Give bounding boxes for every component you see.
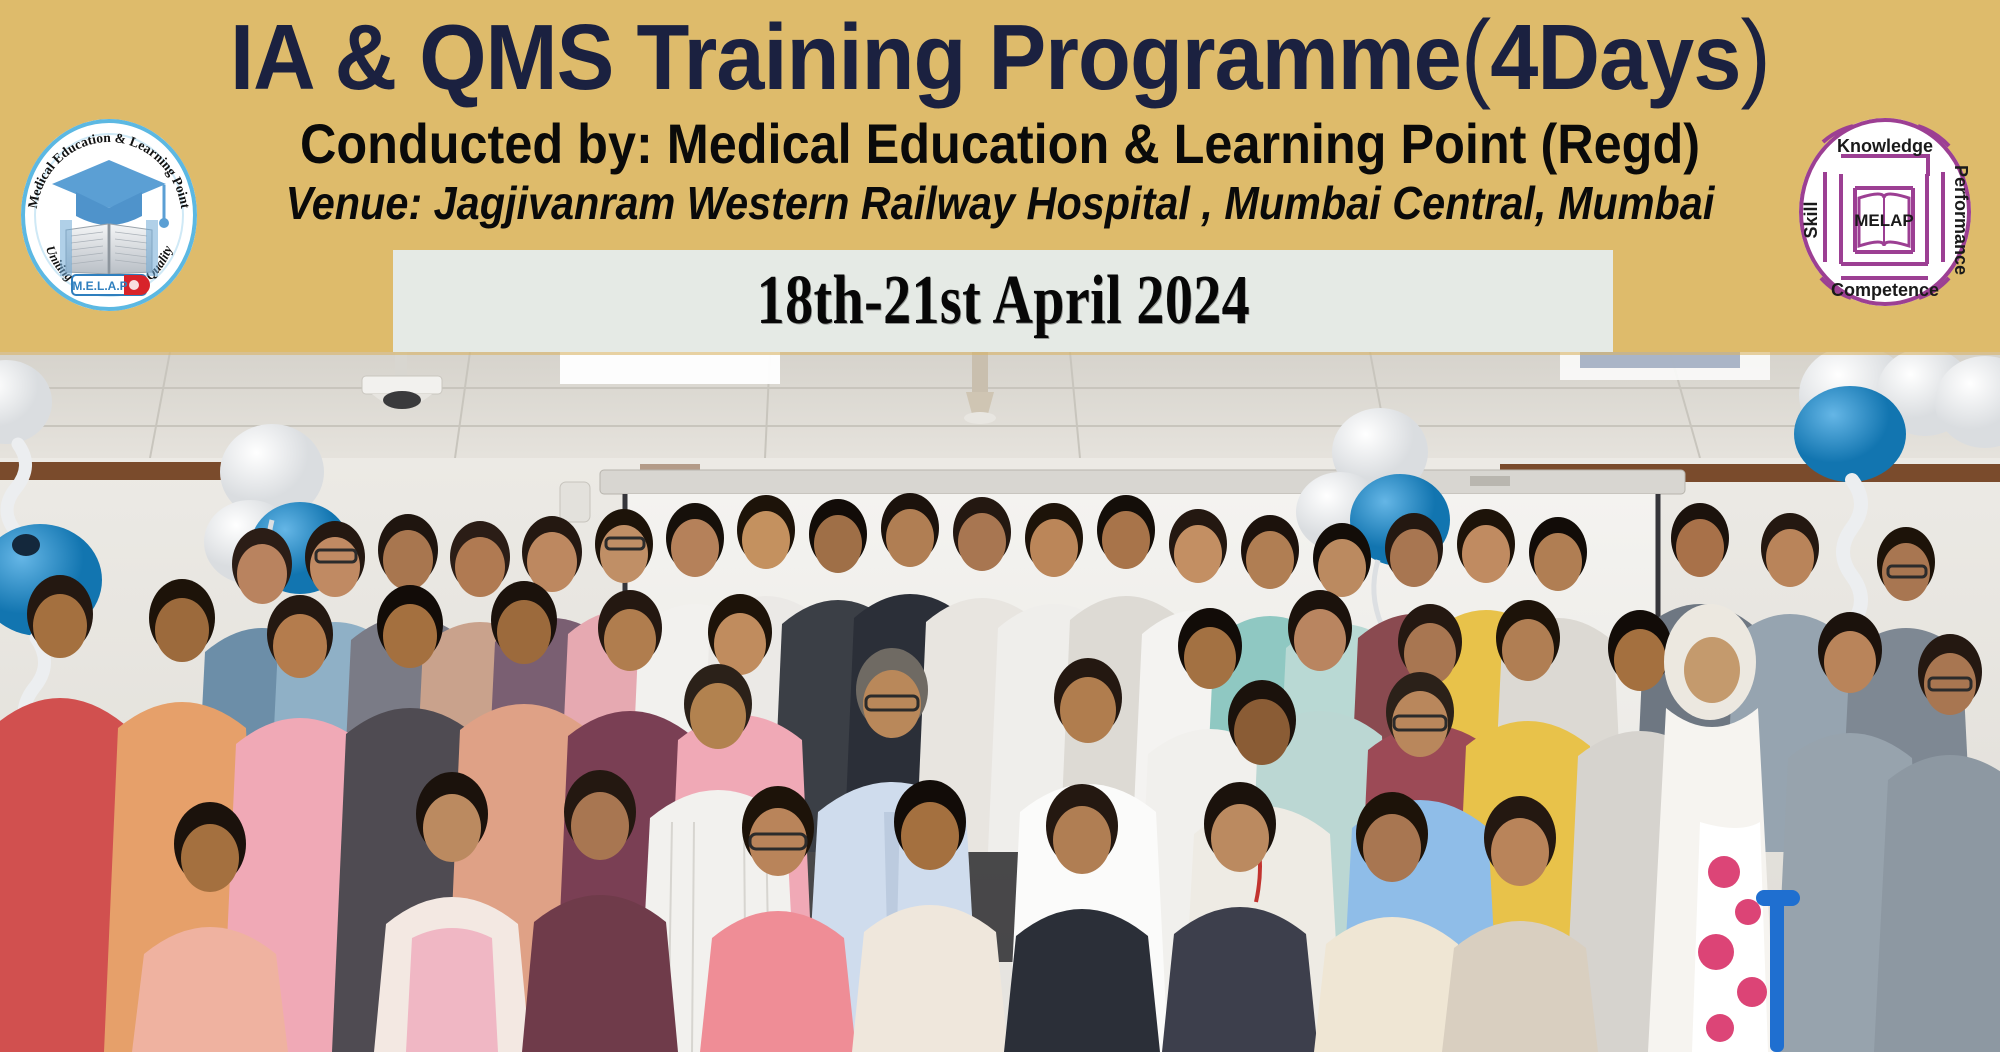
date-text: 18th-21st April 2024: [756, 261, 1249, 341]
training-programme-poster: IA & QMS Training Programme(4Days) Condu…: [0, 0, 2000, 1052]
melap-logo-right: MELAP Knowledge Competence Skill Perform…: [1793, 112, 1978, 312]
svg-text:M.E.L.A.P: M.E.L.A.P: [72, 279, 127, 293]
title-days-text: 4Days: [1490, 5, 1740, 109]
crutch: [1770, 897, 1784, 1052]
melap-logo-left: Medical Education & Learning Point Uniti…: [14, 112, 204, 317]
group-photo: [0, 352, 2000, 1052]
page-title: IA & QMS Training Programme(4Days): [70, 6, 1930, 104]
logo-right-label-right: Performance: [1951, 165, 1971, 275]
logo-right-label-top: Knowledge: [1837, 136, 1933, 156]
date-banner: 18th-21st April 2024: [393, 250, 1613, 352]
title-open-paren: (: [1461, 0, 1490, 110]
logo-right-center-text: MELAP: [1854, 211, 1914, 230]
ceiling-light-panel: [560, 352, 780, 384]
title-close-paren: ): [1741, 0, 1770, 110]
title-main-text: IA & QMS Training Programme: [230, 5, 1461, 109]
conducted-by-line: Conducted by: Medical Education & Learni…: [100, 116, 1900, 172]
venue-line: Venue: Jagjivanram Western Railway Hospi…: [100, 180, 1900, 226]
logo-right-label-bottom: Competence: [1831, 280, 1939, 300]
logo-right-label-left: Skill: [1801, 201, 1821, 238]
logo-left-badge: M.E.L.A.P: [72, 275, 150, 295]
